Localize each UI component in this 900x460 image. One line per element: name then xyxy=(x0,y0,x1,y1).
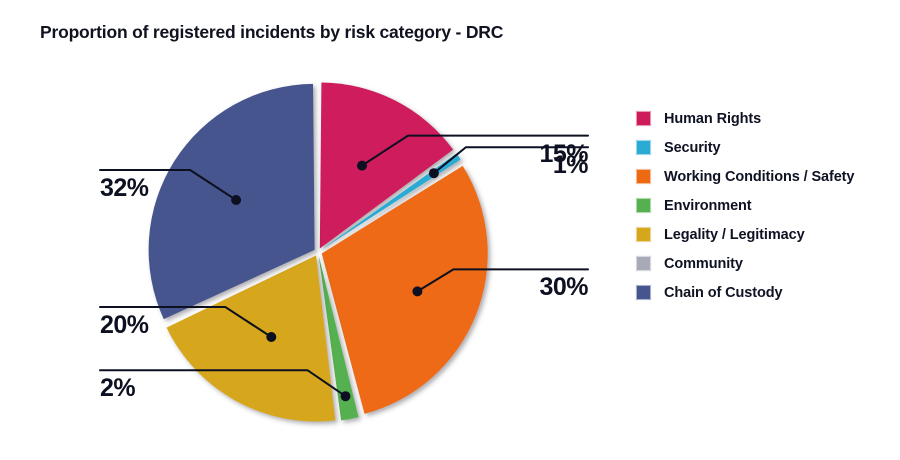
legend-item-label: Legality / Legitimacy xyxy=(664,227,805,243)
callout-legality: 20% xyxy=(100,313,220,338)
legend-color-swatch xyxy=(636,227,651,242)
pie-chart-area xyxy=(0,60,620,460)
legend-color-swatch xyxy=(636,256,651,271)
leader-dot xyxy=(412,286,422,296)
legend-item[interactable]: Security xyxy=(636,133,894,162)
legend-item-label: Human Rights xyxy=(664,111,761,127)
legend-item-label: Environment xyxy=(664,198,752,214)
legend-item-label: Security xyxy=(664,140,720,156)
leader-dot xyxy=(357,161,367,171)
legend-item[interactable]: Working Conditions / Safety xyxy=(636,162,894,191)
leader-dot xyxy=(231,195,241,205)
legend-item[interactable]: Legality / Legitimacy xyxy=(636,220,894,249)
chart-legend: Human RightsSecurityWorking Conditions /… xyxy=(636,104,894,307)
legend-color-swatch xyxy=(636,169,651,184)
legend-item-label: Working Conditions / Safety xyxy=(664,169,854,185)
leader-dot xyxy=(266,332,276,342)
callout-chain: 32% xyxy=(100,176,220,201)
legend-color-swatch xyxy=(636,140,651,155)
legend-item[interactable]: Community xyxy=(636,249,894,278)
legend-item[interactable]: Environment xyxy=(636,191,894,220)
callout-environment: 2% xyxy=(100,376,220,401)
page-title: Proportion of registered incidents by ri… xyxy=(40,22,503,43)
legend-item[interactable]: Chain of Custody xyxy=(636,278,894,307)
legend-item-label: Chain of Custody xyxy=(664,285,782,301)
callout-security: 1% xyxy=(468,153,588,178)
legend-item-label: Community xyxy=(664,256,743,272)
callout-working: 30% xyxy=(468,275,588,300)
pie-chart-svg xyxy=(0,60,620,460)
legend-color-swatch xyxy=(636,285,651,300)
legend-item[interactable]: Human Rights xyxy=(636,104,894,133)
chart-page: Proportion of registered incidents by ri… xyxy=(0,0,900,460)
legend-color-swatch xyxy=(636,111,651,126)
legend-color-swatch xyxy=(636,198,651,213)
leader-dot xyxy=(429,168,439,178)
leader-dot xyxy=(341,391,351,401)
